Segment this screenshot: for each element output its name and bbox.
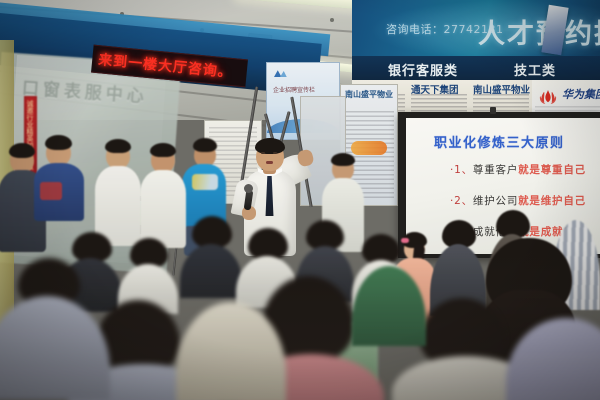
vignette [0,0,600,400]
photo-scene: 口窗表服中心 来到一楼大厅咨询。 咨询电话：27742131 人才预约推荐 银行… [0,0,600,400]
